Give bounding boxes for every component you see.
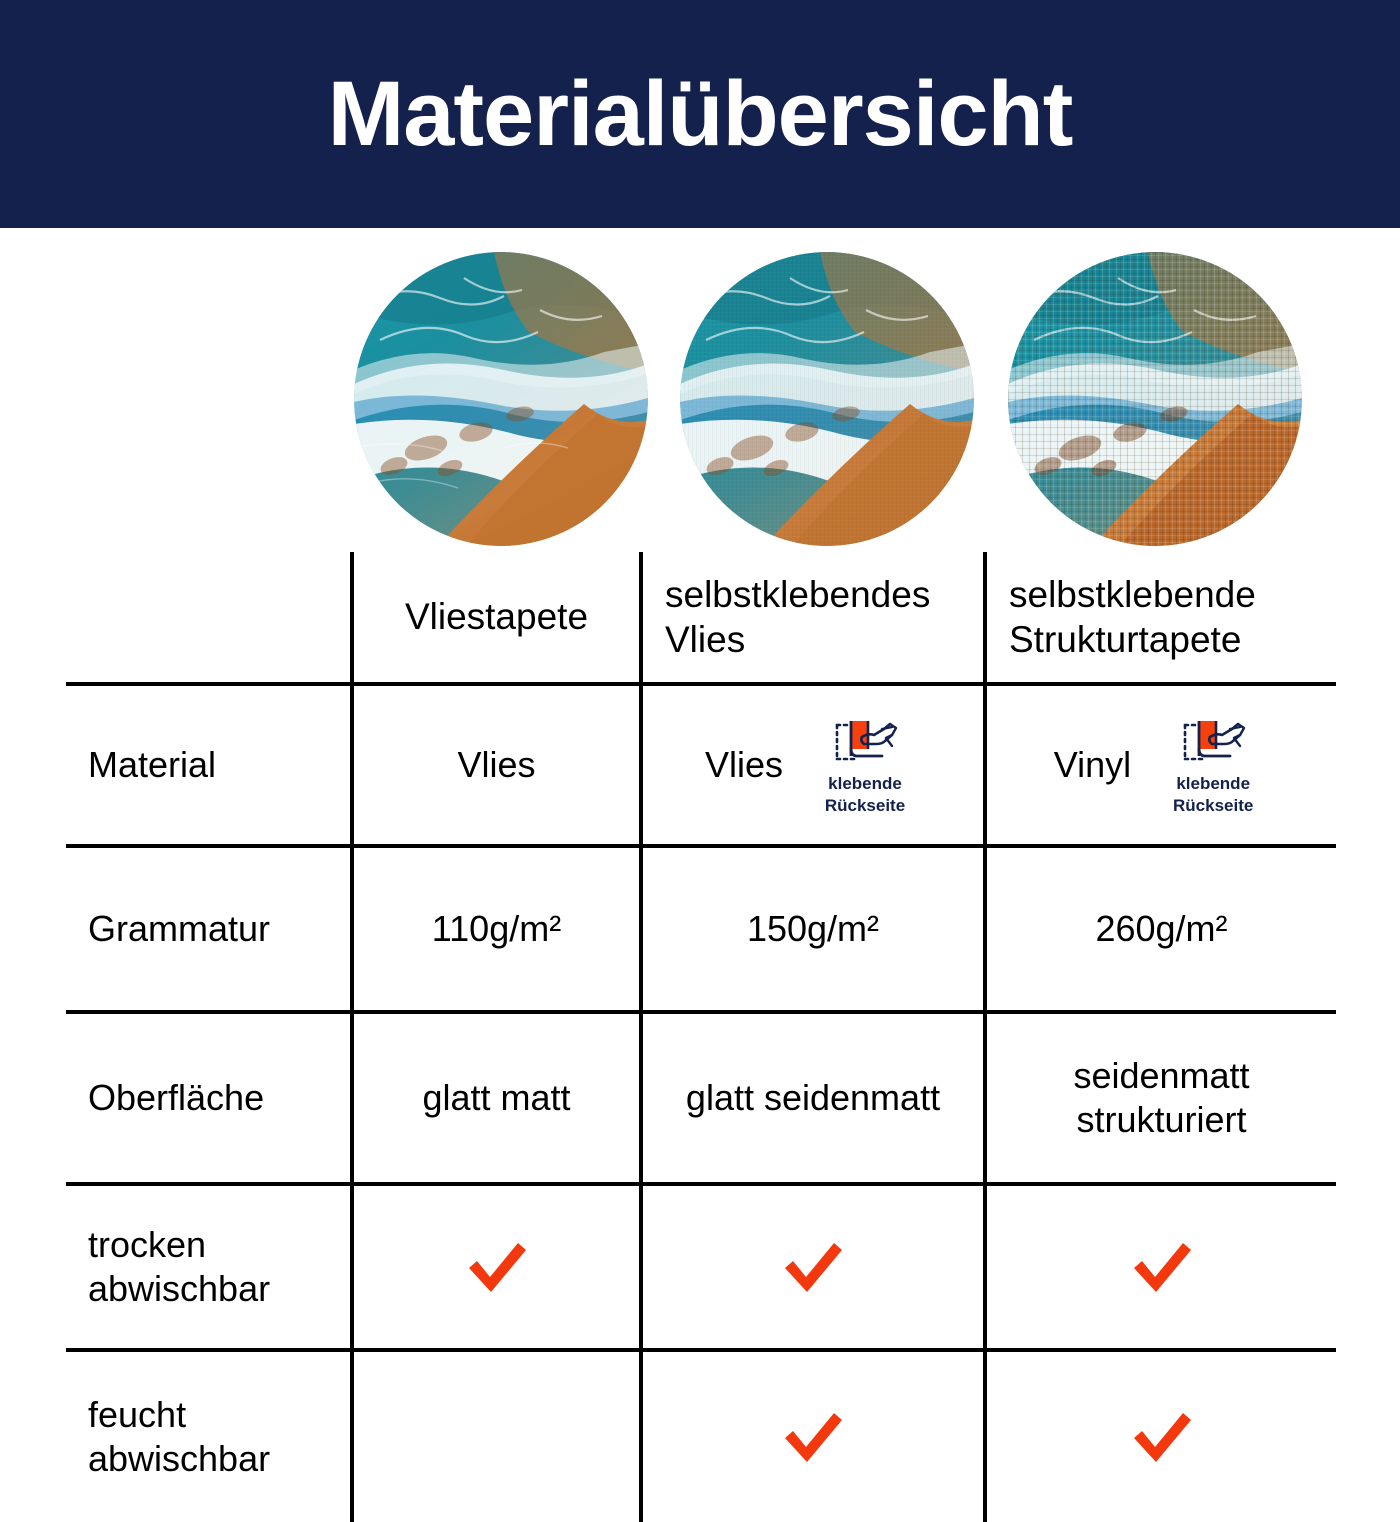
table-row: Material Vlies Vlies [66, 684, 1336, 846]
cell-oberflaeche-vliestapete: glatt matt [352, 1012, 641, 1184]
cell-text: Vlies [705, 743, 783, 787]
row-label-oberflaeche: Oberfläche [66, 1012, 352, 1184]
cell-material-selbstklebendes-vlies: Vlies [641, 684, 985, 846]
material-comparison-table: Vliestapete selbstklebendes Vlies selbst… [66, 552, 1336, 1522]
sample-image-vliestapete [354, 252, 648, 546]
cell-text: Vlies [457, 743, 535, 787]
cell-trocken-vliestapete [352, 1184, 641, 1350]
checkmark-icon [999, 1237, 1324, 1297]
cell-oberflaeche-selbstklebende-strukturtapete: seidenmatt strukturiert [985, 1012, 1336, 1184]
cell-feucht-selbstklebendes-vlies [641, 1350, 985, 1522]
cell-oberflaeche-selbstklebendes-vlies: glatt seidenmatt [641, 1012, 985, 1184]
sample-image-selbstklebende-strukturtapete [1008, 252, 1302, 546]
cell-text: Vinyl [1054, 743, 1131, 787]
row-label-material: Material [66, 684, 352, 846]
peel-adhesive-back-icon [1174, 715, 1252, 771]
cell-trocken-selbstklebende-strukturtapete [985, 1184, 1336, 1350]
cell-feucht-selbstklebende-strukturtapete [985, 1350, 1336, 1522]
badge-label-line1: klebende [828, 774, 902, 793]
peel-adhesive-back-icon [826, 715, 904, 771]
cell-feucht-vliestapete [352, 1350, 641, 1522]
badge-label-line2: Rückseite [1173, 796, 1253, 815]
material-sample-images [0, 252, 1400, 552]
sample-image-selbstklebendes-vlies [680, 252, 974, 546]
badge-label-line2: Rückseite [825, 796, 905, 815]
table: Vliestapete selbstklebendes Vlies selbst… [66, 552, 1336, 1522]
badge-label-line1: klebende [1176, 774, 1250, 793]
column-header-selbstklebendes-vlies: selbstklebendes Vlies [641, 552, 985, 684]
row-label-grammatur: Grammatur [66, 846, 352, 1012]
checkmark-icon [655, 1407, 971, 1467]
header-cell-empty [66, 552, 352, 684]
table-row: feucht abwischbar [66, 1350, 1336, 1522]
checkmark-icon [999, 1407, 1324, 1467]
page-title: Materialübersicht [328, 68, 1073, 160]
material-overview-page: Materialübersicht [0, 0, 1400, 1400]
row-label-feucht-abwischbar: feucht abwischbar [66, 1350, 352, 1522]
checkmark-icon [655, 1237, 971, 1297]
table-header-row: Vliestapete selbstklebendes Vlies selbst… [66, 552, 1336, 684]
cell-grammatur-vliestapete: 110g/m² [352, 846, 641, 1012]
row-label-trocken-abwischbar: trocken abwischbar [66, 1184, 352, 1350]
header-banner: Materialübersicht [0, 0, 1400, 228]
cell-grammatur-selbstklebende-strukturtapete: 260g/m² [985, 846, 1336, 1012]
column-header-vliestapete: Vliestapete [352, 552, 641, 684]
cell-trocken-selbstklebendes-vlies [641, 1184, 985, 1350]
cell-material-selbstklebende-strukturtapete: Vinyl [985, 684, 1336, 846]
cell-grammatur-selbstklebendes-vlies: 150g/m² [641, 846, 985, 1012]
adhesive-back-badge: klebende Rückseite [809, 715, 921, 815]
table-row: Oberfläche glatt matt glatt seidenmatt s… [66, 1012, 1336, 1184]
cell-material-vliestapete: Vlies [352, 684, 641, 846]
checkmark-icon [366, 1237, 627, 1297]
adhesive-back-badge: klebende Rückseite [1157, 715, 1269, 815]
table-row: trocken abwischbar [66, 1184, 1336, 1350]
table-row: Grammatur 110g/m² 150g/m² 260g/m² [66, 846, 1336, 1012]
column-header-selbstklebende-strukturtapete: selbstklebende Strukturtapete [985, 552, 1336, 684]
